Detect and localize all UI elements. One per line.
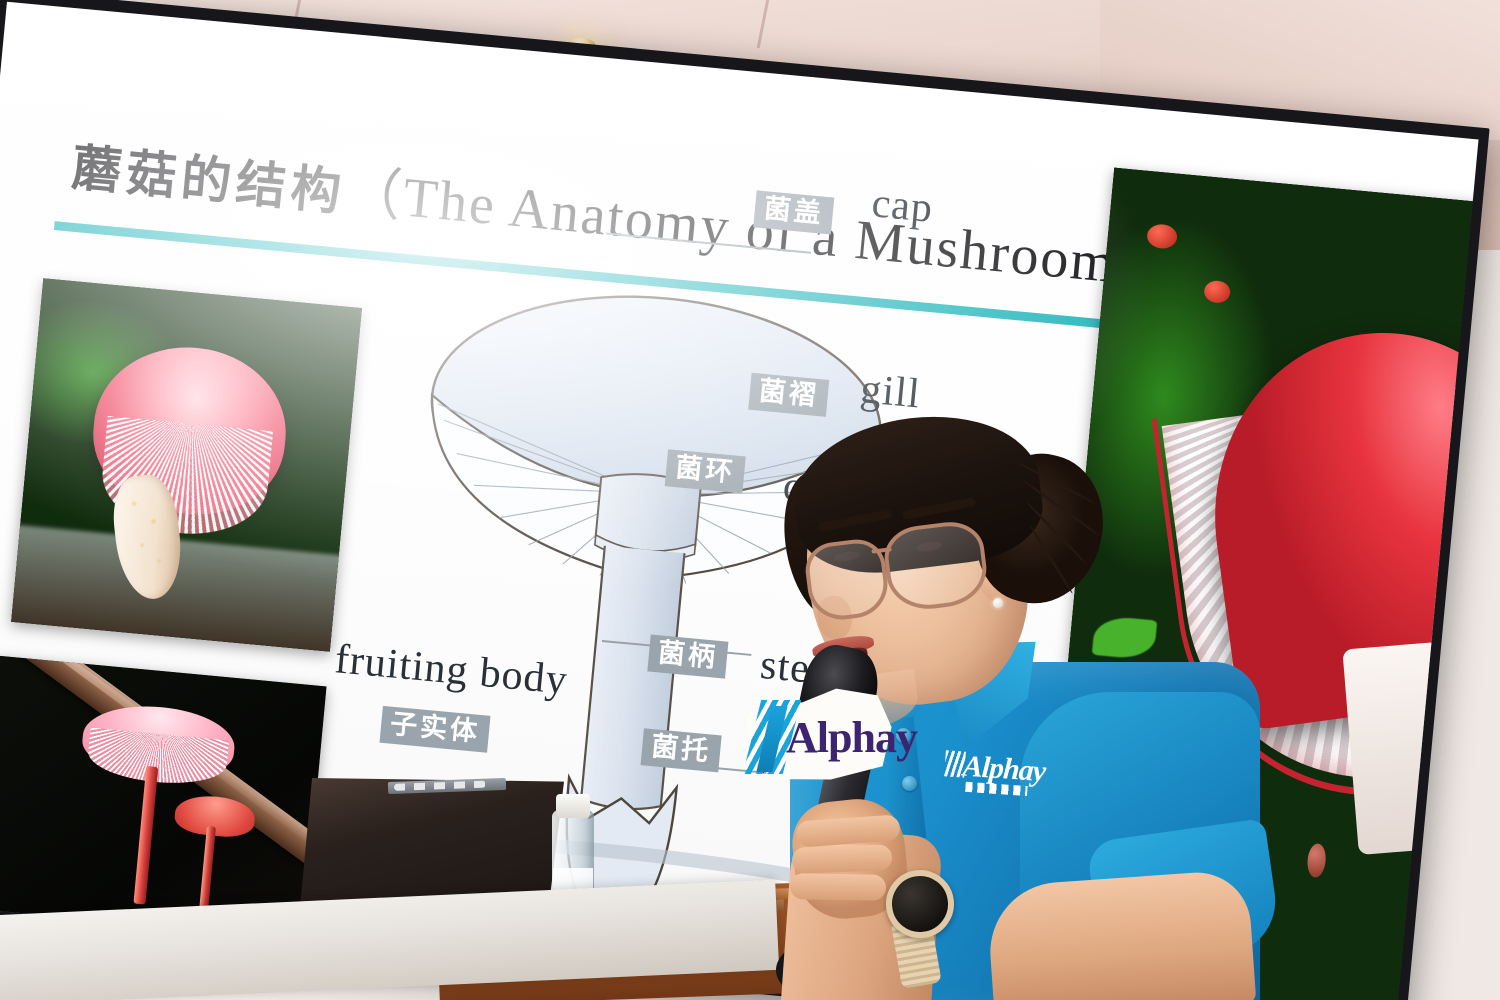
- label-chip-cap: 菌盖: [753, 190, 834, 234]
- conference-presentation-photo: 蘑菇的结构（The Anatomy of a Mushroom: [0, 0, 1500, 1000]
- shirt-logo: Alphay: [942, 748, 1054, 811]
- finger-3: [790, 873, 886, 901]
- slide-photo-pink-mushroom: [11, 278, 362, 651]
- mic-flag-logo-text: Alphay: [786, 712, 917, 763]
- label-en-cap: cap: [870, 179, 936, 233]
- shirt-button-2: [902, 776, 917, 791]
- water-bottle-cap: [556, 794, 590, 818]
- lens-right: [881, 518, 990, 614]
- finger-2: [792, 844, 893, 873]
- presenter: Alphay Alphay: [690, 400, 1250, 1000]
- slide-title-cn: 蘑菇的结构: [69, 139, 348, 222]
